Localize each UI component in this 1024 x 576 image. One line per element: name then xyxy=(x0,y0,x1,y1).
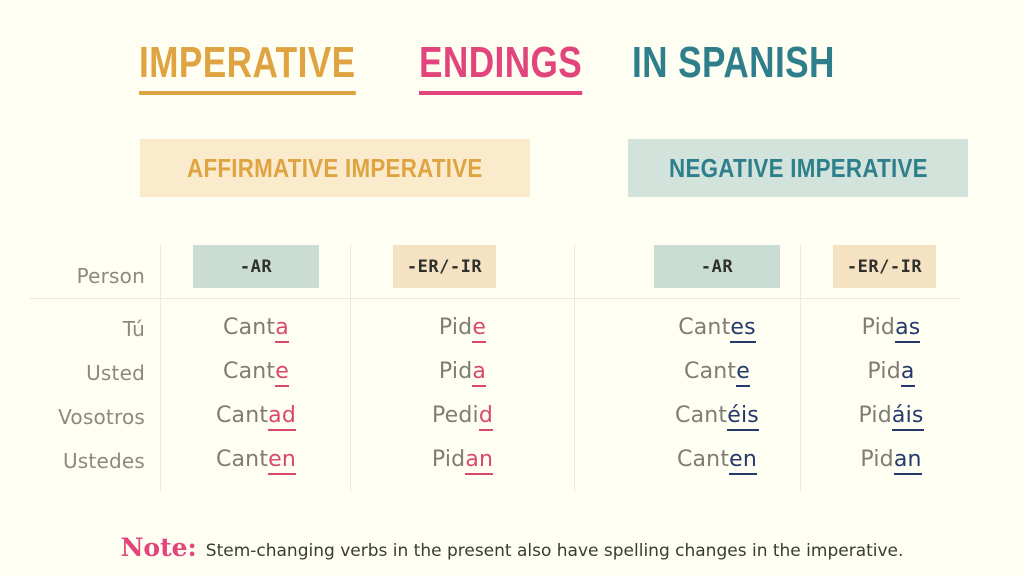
title-segment-imperative: IMPERATIVE xyxy=(139,38,356,95)
row-label-ustedes: Ustedes xyxy=(5,449,145,473)
note-text: Stem-changing verbs in the present also … xyxy=(206,541,904,561)
verb-stem: Pid xyxy=(439,359,472,384)
verb-ending: ad xyxy=(268,403,296,431)
verb-ending: a xyxy=(275,315,289,343)
cell-usted-negative-ar: Cante xyxy=(622,359,812,384)
verb-stem: Cant xyxy=(684,359,736,384)
verb-stem: Pid xyxy=(439,315,472,340)
column-header-negative-erir: -ER/-IR xyxy=(833,245,936,288)
column-header-affirmative-ar: -AR xyxy=(193,245,319,288)
verb-ending: a xyxy=(901,359,915,387)
cell-ustedes-negative-ar: Canten xyxy=(622,447,812,472)
row-label-tu: Tú xyxy=(5,317,145,341)
section-label-affirmative: AFFIRMATIVE IMPERATIVE xyxy=(187,153,483,184)
verb-stem: Cant xyxy=(216,447,268,472)
cell-vosotros-negative-ar: Cantéis xyxy=(622,403,812,428)
verb-stem: Pid xyxy=(862,315,895,340)
verb-stem: Pid xyxy=(432,447,465,472)
cell-usted-affirmative-erir: Pida xyxy=(351,359,574,384)
verb-ending: éis xyxy=(727,403,759,431)
verb-ending: a xyxy=(472,359,486,387)
verb-ending: es xyxy=(730,315,755,343)
verb-stem: Cant xyxy=(677,447,729,472)
verb-stem: Cant xyxy=(223,315,275,340)
cell-vosotros-negative-erir: Pidáis xyxy=(801,403,981,428)
row-header-person: Person xyxy=(5,264,145,288)
verb-ending: e xyxy=(736,359,750,387)
row-label-vosotros: Vosotros xyxy=(5,405,145,429)
column-header-negative-ar: -AR xyxy=(654,245,780,288)
header-row-divider xyxy=(30,298,960,299)
cell-vosotros-affirmative-ar: Cantad xyxy=(161,403,351,428)
verb-ending: áis xyxy=(892,403,924,431)
column-header-affirmative-erir: -ER/-IR xyxy=(393,245,496,288)
section-label-negative: NEGATIVE IMPERATIVE xyxy=(669,153,928,184)
cell-tu-negative-erir: Pidas xyxy=(801,315,981,340)
cell-vosotros-affirmative-erir: Pedid xyxy=(351,403,574,428)
cell-usted-affirmative-ar: Cante xyxy=(161,359,351,384)
verb-ending: e xyxy=(275,359,289,387)
verb-stem: Pid xyxy=(860,447,893,472)
cell-tu-affirmative-ar: Canta xyxy=(161,315,351,340)
verb-stem: Cant xyxy=(223,359,275,384)
verb-stem: Cant xyxy=(216,403,268,428)
page-title: IMPERATIVEENDINGSIN SPANISH xyxy=(0,38,1024,95)
verb-ending: an xyxy=(894,447,922,475)
column-divider-3 xyxy=(574,244,575,492)
cell-usted-negative-erir: Pida xyxy=(801,359,981,384)
section-band-affirmative: AFFIRMATIVE IMPERATIVE xyxy=(140,139,530,197)
verb-ending: en xyxy=(729,447,757,475)
verb-stem: Pedi xyxy=(432,403,479,428)
verb-ending: d xyxy=(479,403,493,431)
note-label: Note: xyxy=(121,533,197,562)
title-segment-in-spanish: IN SPANISH xyxy=(632,38,835,91)
verb-stem: Cant xyxy=(678,315,730,340)
title-segment-endings: ENDINGS xyxy=(419,38,582,95)
cell-tu-affirmative-erir: Pide xyxy=(351,315,574,340)
verb-stem: Pid xyxy=(858,403,891,428)
footer-note: Note:Stem-changing verbs in the present … xyxy=(0,533,1024,562)
cell-ustedes-affirmative-ar: Canten xyxy=(161,447,351,472)
cell-ustedes-negative-erir: Pidan xyxy=(801,447,981,472)
verb-ending: an xyxy=(465,447,493,475)
cell-tu-negative-ar: Cantes xyxy=(622,315,812,340)
verb-stem: Cant xyxy=(675,403,727,428)
cell-ustedes-affirmative-erir: Pidan xyxy=(351,447,574,472)
verb-stem: Pid xyxy=(867,359,900,384)
verb-ending: en xyxy=(268,447,296,475)
section-band-negative: NEGATIVE IMPERATIVE xyxy=(628,139,968,197)
row-label-usted: Usted xyxy=(5,361,145,385)
verb-ending: as xyxy=(895,315,920,343)
verb-ending: e xyxy=(472,315,486,343)
